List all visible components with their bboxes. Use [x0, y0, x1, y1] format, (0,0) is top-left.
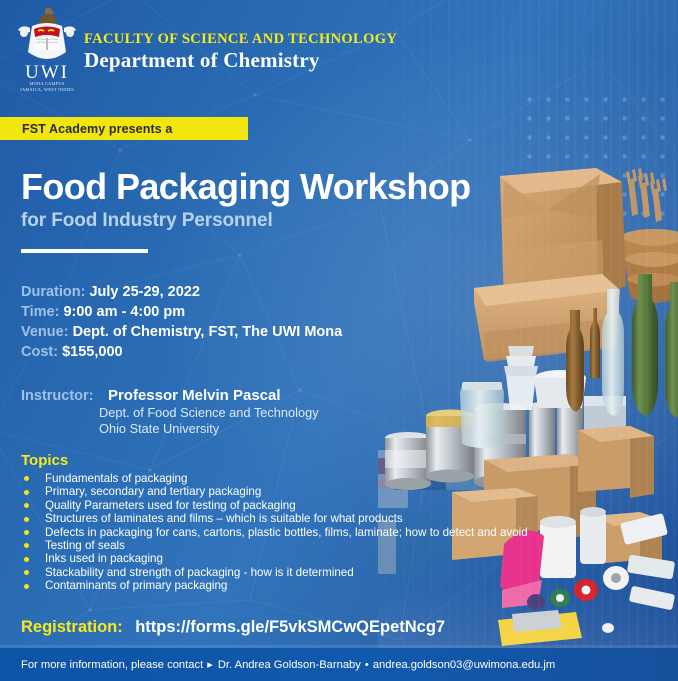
- detail-label: Duration:: [21, 284, 85, 300]
- poster-root: Muffin Mix Cake Mix: [0, 0, 678, 681]
- topic-item: Defects in packaging for cans, cartons, …: [21, 526, 528, 539]
- presents-ribbon-label: FST Academy presents a: [22, 122, 172, 136]
- topic-item: Primary, secondary and tertiary packagin…: [21, 485, 528, 498]
- detail-label: Cost:: [21, 344, 58, 360]
- detail-value: $155,000: [62, 344, 122, 360]
- footer-prefix: For more information, please contact: [21, 659, 203, 671]
- uwi-campus-line: MONA CAMPUS JAMAICA, WEST INDIES: [12, 81, 82, 92]
- event-details: Duration: July 25-29, 2022 Time: 9:00 am…: [21, 282, 342, 362]
- instructor-block: Instructor: Professor Melvin Pascal Dept…: [21, 387, 319, 436]
- footer-contact-line: For more information, please contact▸Dr.…: [21, 658, 555, 671]
- presents-ribbon: FST Academy presents a: [0, 117, 248, 140]
- instructor-name-row: Instructor: Professor Melvin Pascal: [21, 387, 319, 405]
- detail-value: July 25-29, 2022: [89, 284, 199, 300]
- topic-item: Quality Parameters used for testing of p…: [21, 499, 528, 512]
- department-name: Department of Chemistry: [84, 48, 320, 73]
- topic-item: Contaminants of primary packaging: [21, 579, 528, 592]
- page-title: Food Packaging Workshop: [21, 166, 471, 208]
- title-divider: [21, 249, 148, 253]
- detail-row: Venue: Dept. of Chemistry, FST, The UWI …: [21, 322, 342, 342]
- detail-row: Time: 9:00 am - 4:00 pm: [21, 302, 342, 322]
- registration-block: Registration: https://forms.gle/F5vkSMCw…: [21, 618, 445, 637]
- registration-label: Registration:: [21, 618, 123, 636]
- topic-item: Inks used in packaging: [21, 552, 528, 565]
- detail-label: Time:: [21, 304, 59, 320]
- bullet-separator-icon: •: [365, 659, 369, 671]
- detail-value: Dept. of Chemistry, FST, The UWI Mona: [73, 324, 343, 340]
- instructor-label: Instructor:: [21, 388, 94, 404]
- detail-row: Duration: July 25-29, 2022: [21, 282, 342, 302]
- poster-header: UWI MONA CAMPUS JAMAICA, WEST INDIES FAC…: [0, 0, 678, 100]
- footer-contact-name: Dr. Andrea Goldson-Barnaby: [218, 659, 361, 671]
- svg-text:Muffin Mix: Muffin Mix: [412, 454, 477, 469]
- faculty-name: FACULTY OF SCIENCE AND TECHNOLOGY: [84, 31, 397, 48]
- dot-grid-decoration: [520, 90, 678, 220]
- detail-value: 9:00 am - 4:00 pm: [63, 304, 185, 320]
- instructor-affiliation-line2: Ohio State University: [99, 421, 319, 437]
- poster-footer: For more information, please contact▸Dr.…: [0, 648, 678, 681]
- topic-item: Testing of seals: [21, 539, 528, 552]
- detail-label: Venue:: [21, 324, 69, 340]
- registration-url[interactable]: https://forms.gle/F5vkSMCwQEpetNcg7: [135, 618, 445, 636]
- topic-item: Stackability and strength of packaging -…: [21, 566, 528, 579]
- topics-list: Fundamentals of packaging Primary, secon…: [21, 472, 528, 593]
- instructor-name: Professor Melvin Pascal: [108, 387, 281, 404]
- instructor-affiliation-line1: Dept. of Food Science and Technology: [99, 405, 319, 421]
- topics-heading: Topics: [21, 452, 68, 469]
- page-subtitle: for Food Industry Personnel: [21, 210, 273, 232]
- topic-item: Structures of laminates and films – whic…: [21, 512, 528, 525]
- play-arrow-icon: ▸: [207, 658, 213, 671]
- footer-email[interactable]: andrea.goldson03@uwimona.edu.jm: [373, 659, 555, 671]
- topic-item: Fundamentals of packaging: [21, 472, 528, 485]
- detail-row: Cost: $155,000: [21, 342, 342, 362]
